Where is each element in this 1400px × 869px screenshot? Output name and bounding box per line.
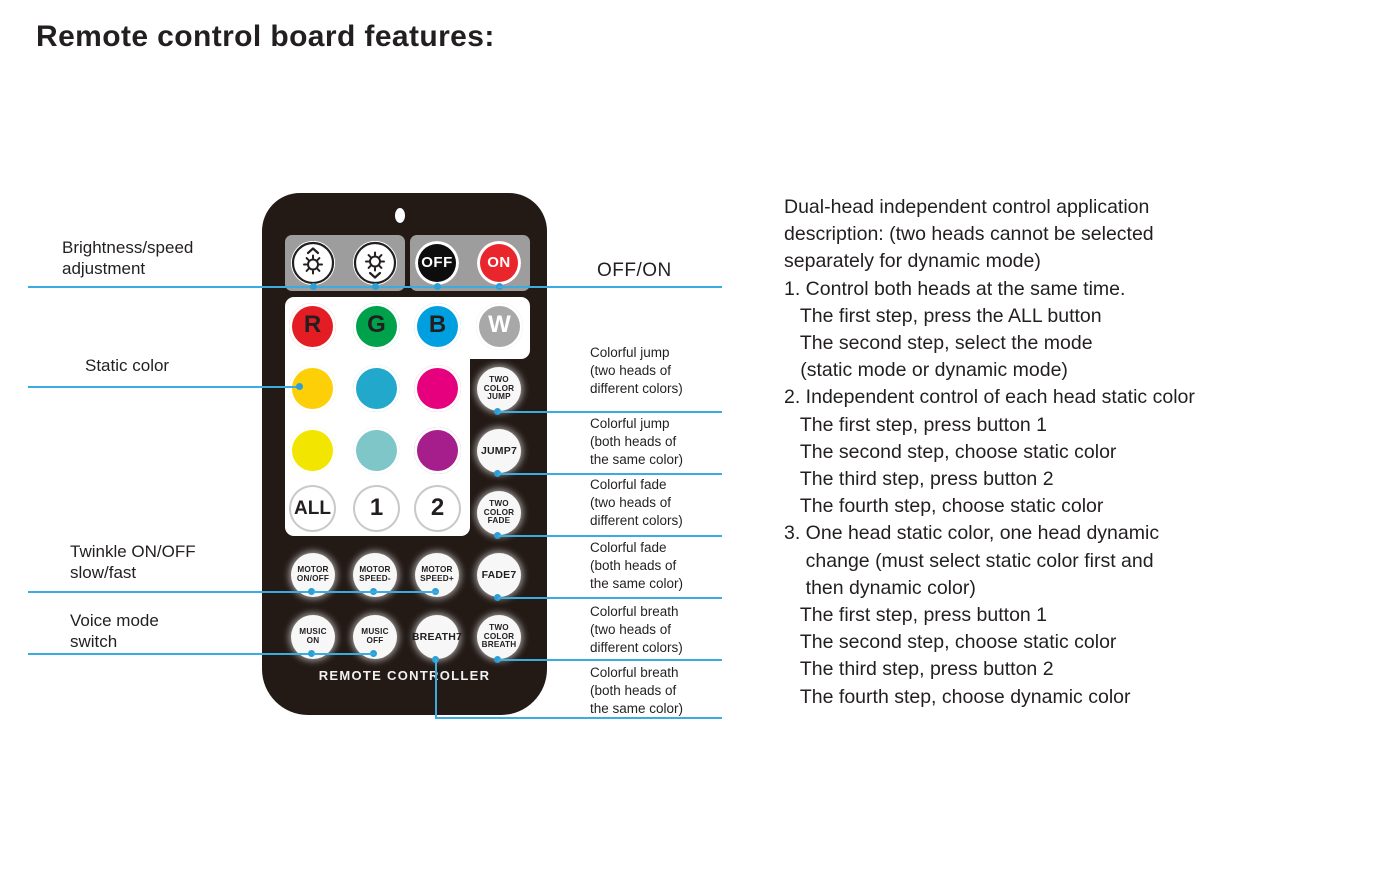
label-colorful-jump-two-line3: different colors) [590, 380, 683, 398]
breath7-label: BREATH7 [412, 632, 462, 643]
label-colorful-breath-both-line1: Colorful breath [590, 664, 683, 682]
label-colorful-breath-both-line2: (both heads of [590, 682, 683, 700]
power-on-button[interactable]: ON [477, 241, 521, 285]
sun-up-icon [291, 241, 335, 285]
label-static-color-line1: Static color [85, 355, 169, 376]
motor-onoff-label: MOTOR ON/OFF [297, 566, 329, 583]
label-colorful-breath-two-line1: Colorful breath [590, 603, 683, 621]
label-colorful-jump-both-line1: Colorful jump [590, 415, 683, 433]
callout-dot-brightness-up [310, 283, 317, 290]
label-colorful-breath-two-line2: (two heads of [590, 621, 683, 639]
two-color-breath-label: TWO COLOR BREATH [482, 624, 517, 650]
page-title: Remote control board features: [36, 20, 495, 54]
description-line-4: 1. Control both heads at the same time. [784, 276, 1384, 303]
music-off-label: MUSIC OFF [361, 628, 388, 645]
jump7-button[interactable]: JUMP7 [477, 429, 521, 473]
callout-line-voice-ext [313, 653, 375, 655]
callout-vline-breath7 [435, 659, 437, 719]
label-colorful-breath-both: Colorful breath (both heads of the same … [590, 664, 683, 718]
description-line-19: The fourth step, choose dynamic color [784, 684, 1384, 711]
label-colorful-fade-both-line2: (both heads of [590, 557, 683, 575]
description-block: Dual-head independent control applicatio… [784, 194, 1384, 711]
callout-line-voice-mode [28, 653, 313, 655]
description-line-14: change (must select static color first a… [784, 548, 1384, 575]
brightness-down-button[interactable] [353, 241, 397, 285]
color-button-blue[interactable]: B [414, 303, 461, 350]
label-static-color: Static color [85, 355, 169, 376]
color-button-cyan[interactable] [353, 365, 400, 412]
callout-dot-off [434, 283, 441, 290]
description-line-2: description: (two heads cannot be select… [784, 221, 1384, 248]
remote-footer-text: REMOTE CONTROLLER [262, 668, 547, 683]
color-label-red: R [304, 313, 321, 338]
label-colorful-fade-both-line3: the same color) [590, 575, 683, 593]
fade7-label: FADE7 [482, 570, 517, 581]
label-colorful-fade-two-line1: Colorful fade [590, 476, 683, 494]
motor-speed-down-label: MOTOR SPEED- [359, 566, 391, 583]
description-line-15: then dynamic color) [784, 575, 1384, 602]
head-1-label: 1 [370, 496, 383, 521]
label-colorful-jump-two: Colorful jump (two heads of different co… [590, 344, 683, 398]
power-off-label: OFF [421, 255, 453, 271]
power-on-label: ON [487, 255, 511, 271]
two-color-breath-button[interactable]: TWO COLOR BREATH [477, 615, 521, 659]
label-colorful-fade-both-line1: Colorful fade [590, 539, 683, 557]
color-button-lightcyan[interactable] [353, 427, 400, 474]
two-color-fade-label: TWO COLOR FADE [484, 500, 515, 526]
label-brightness-speed-line2: adjustment [62, 258, 193, 279]
callout-line-brightness [28, 286, 498, 288]
head-1-button[interactable]: 1 [353, 485, 400, 532]
color-button-white[interactable]: W [476, 303, 523, 350]
label-voice-mode: Voice mode switch [70, 610, 159, 653]
breath7-button[interactable]: BREATH7 [415, 615, 459, 659]
two-color-fade-button[interactable]: TWO COLOR FADE [477, 491, 521, 535]
callout-line-off-on [498, 286, 722, 288]
label-off-on-line1: OFF/ON [597, 258, 672, 283]
color-button-red[interactable]: R [289, 303, 336, 350]
description-line-16: The first step, press button 1 [784, 602, 1384, 629]
ir-led-icon [395, 208, 405, 223]
label-twinkle-line1: Twinkle ON/OFF [70, 541, 196, 562]
description-line-17: The second step, choose static color [784, 629, 1384, 656]
label-colorful-jump-both-line3: the same color) [590, 451, 683, 469]
color-label-white: W [488, 313, 511, 338]
label-colorful-fade-both: Colorful fade (both heads of the same co… [590, 539, 683, 593]
description-line-5: The first step, press the ALL button [784, 303, 1384, 330]
label-brightness-speed: Brightness/speed adjustment [62, 237, 193, 280]
callout-line-colorful-fade-both [498, 597, 722, 599]
sun-down-icon [353, 241, 397, 285]
color-label-green: G [367, 313, 386, 338]
callout-line-colorful-fade-two [498, 535, 722, 537]
description-line-1: Dual-head independent control applicatio… [784, 194, 1384, 221]
label-off-on: OFF/ON [597, 258, 672, 283]
fade7-button[interactable]: FADE7 [477, 553, 521, 597]
description-line-18: The third step, press button 2 [784, 656, 1384, 683]
label-colorful-jump-two-line1: Colorful jump [590, 344, 683, 362]
callout-dot-static-color [296, 383, 303, 390]
label-colorful-jump-two-line2: (two heads of [590, 362, 683, 380]
callout-line-twinkle-ext [313, 591, 438, 593]
label-twinkle-line2: slow/fast [70, 562, 196, 583]
head-2-label: 2 [431, 496, 444, 521]
callout-line-colorful-jump-two [498, 411, 722, 413]
callout-line-colorful-jump-both [498, 473, 722, 475]
jump7-label: JUMP7 [481, 446, 517, 457]
all-button[interactable]: ALL [289, 485, 336, 532]
head-2-button[interactable]: 2 [414, 485, 461, 532]
label-colorful-breath-two-line3: different colors) [590, 639, 683, 657]
color-button-yellow[interactable] [289, 427, 336, 474]
color-button-magenta[interactable] [414, 365, 461, 412]
label-twinkle: Twinkle ON/OFF slow/fast [70, 541, 196, 584]
description-line-3: separately for dynamic mode) [784, 248, 1384, 275]
two-color-jump-label: TWO COLOR JUMP [484, 376, 515, 402]
description-line-7: (static mode or dynamic mode) [784, 357, 1384, 384]
music-on-label: MUSIC ON [299, 628, 326, 645]
label-colorful-breath-two: Colorful breath (two heads of different … [590, 603, 683, 657]
description-line-6: The second step, select the mode [784, 330, 1384, 357]
color-label-blue: B [429, 313, 446, 338]
label-voice-mode-line2: switch [70, 631, 159, 652]
label-colorful-jump-both: Colorful jump (both heads of the same co… [590, 415, 683, 469]
label-colorful-fade-two: Colorful fade (two heads of different co… [590, 476, 683, 530]
label-colorful-breath-both-line3: the same color) [590, 700, 683, 718]
color-button-green[interactable]: G [353, 303, 400, 350]
label-colorful-jump-both-line2: (both heads of [590, 433, 683, 451]
callout-dot-brightness-down [372, 283, 379, 290]
callout-line-colorful-breath-two [498, 659, 722, 661]
power-off-button[interactable]: OFF [415, 241, 459, 285]
description-line-10: The second step, choose static color [784, 439, 1384, 466]
two-color-jump-button[interactable]: TWO COLOR JUMP [477, 367, 521, 411]
label-colorful-fade-two-line3: different colors) [590, 512, 683, 530]
label-colorful-fade-two-line2: (two heads of [590, 494, 683, 512]
color-button-purple[interactable] [414, 427, 461, 474]
label-brightness-speed-line1: Brightness/speed [62, 237, 193, 258]
description-line-8: 2. Independent control of each head stat… [784, 384, 1384, 411]
description-line-13: 3. One head static color, one head dynam… [784, 520, 1384, 547]
label-voice-mode-line1: Voice mode [70, 610, 159, 631]
callout-line-twinkle [28, 591, 313, 593]
diagram-canvas: Remote control board features: [0, 0, 1400, 869]
all-button-label: ALL [294, 499, 331, 519]
description-line-9: The first step, press button 1 [784, 412, 1384, 439]
description-line-11: The third step, press button 2 [784, 466, 1384, 493]
callout-line-static-color [28, 386, 300, 388]
motor-speed-up-label: MOTOR SPEED+ [420, 566, 454, 583]
description-line-12: The fourth step, choose static color [784, 493, 1384, 520]
remote-control-body: OFF ON R G B W ALL [262, 193, 547, 715]
brightness-up-button[interactable] [291, 241, 335, 285]
